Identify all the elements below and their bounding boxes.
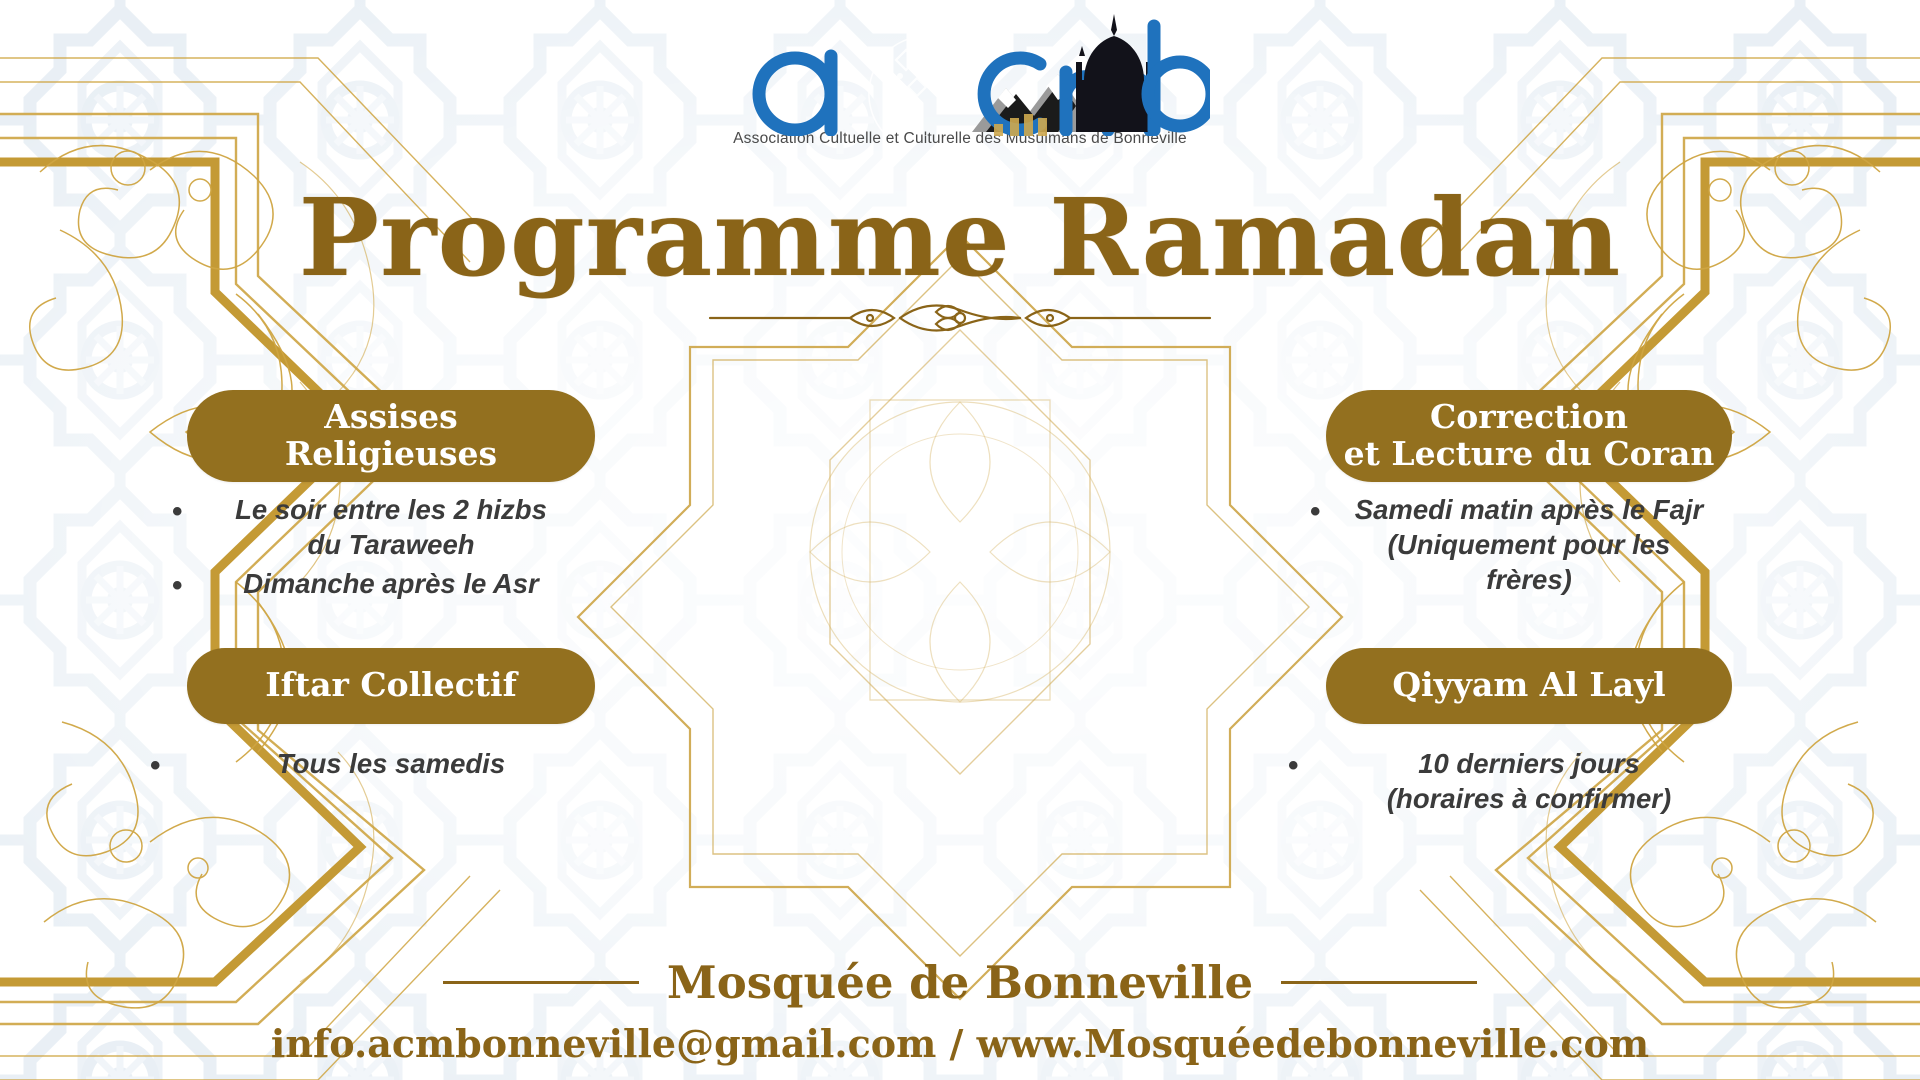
brand-logo-block: Association Cultuelle et Culturelle des … — [0, 6, 1920, 148]
programme-row-2: Iftar Collectif • Tous les samedis Qiyya… — [0, 648, 1920, 820]
section-heading-qiyyam[interactable]: Qiyyam Al Layl — [1326, 648, 1732, 724]
title-block: Programme Ramadan — [0, 185, 1920, 343]
programme-sections: Assises Religieuses • Le soir entre les … — [0, 390, 1920, 820]
list-item: • 10 derniers jours (horaires à confirme… — [1314, 746, 1744, 816]
heading-line-1: Correction — [1430, 397, 1628, 436]
section-qiyyam-al-layl: Qiyyam Al Layl • 10 derniers jours (hora… — [1149, 648, 1909, 820]
ornamental-flourish-divider — [700, 298, 1220, 338]
section-heading-coran[interactable]: Correction et Lecture du Coran — [1326, 390, 1732, 482]
bullet-dot-icon: • — [150, 748, 161, 784]
bullet-list-coran: • Samedi matin après le Fajr (Uniquement… — [1314, 492, 1744, 602]
section-assises-religieuses: Assises Religieuses • Le soir entre les … — [11, 390, 771, 606]
bullet-text-line-2: du Taraweeh — [307, 529, 474, 560]
section-iftar-collectif: Iftar Collectif • Tous les samedis — [11, 648, 771, 785]
section-heading-assises[interactable]: Assises Religieuses — [187, 390, 595, 482]
list-item: • Tous les samedis — [176, 746, 606, 781]
bullet-text-line-1: Le soir entre les 2 hizbs — [235, 494, 547, 525]
footer-name-row: Mosquée de Bonneville — [0, 960, 1920, 1005]
bullet-text: Dimanche après le Asr — [243, 568, 539, 599]
page-title: Programme Ramadan — [0, 185, 1920, 292]
bullet-text-line-2: (horaires à confirmer) — [1387, 783, 1671, 814]
mosque-name: Mosquée de Bonneville — [667, 960, 1253, 1005]
list-item: • Samedi matin après le Fajr (Uniquement… — [1314, 492, 1744, 598]
footer: Mosquée de Bonneville info.acmbonneville… — [0, 960, 1920, 1066]
acmb-logo-mark — [710, 6, 1210, 136]
bullet-list-iftar: • Tous les samedis — [176, 746, 606, 785]
bullet-text-line-1: Samedi matin après le Fajr — [1355, 494, 1703, 525]
heading-line-2: et Lecture du Coran — [1344, 434, 1715, 473]
bullet-dot-icon: • — [1310, 494, 1321, 530]
mosque-dome-icon — [1076, 14, 1155, 132]
bullet-text-line-1: 10 derniers jours — [1418, 748, 1640, 779]
heading-line-1: Qiyyam Al Layl — [1392, 667, 1665, 704]
list-item: • Le soir entre les 2 hizbs du Taraweeh — [176, 492, 606, 562]
bullet-list-assises: • Le soir entre les 2 hizbs du Taraweeh … — [176, 492, 606, 606]
heading-line-1: Iftar Collectif — [265, 667, 517, 704]
bullet-text: Tous les samedis — [277, 748, 505, 779]
heading-line-1: Assises — [324, 397, 457, 436]
bullet-dot-icon: • — [172, 568, 183, 604]
footer-rule-right — [1281, 981, 1477, 984]
bullet-text-line-3: frères) — [1486, 564, 1572, 595]
heading-line-2: Religieuses — [285, 434, 497, 473]
ramadan-programme-poster: Association Cultuelle et Culturelle des … — [0, 0, 1920, 1080]
contact-line: info.acmbonneville@gmail.com / www.Mosqu… — [0, 1021, 1920, 1066]
bullet-dot-icon: • — [1288, 748, 1299, 784]
bullet-text-line-2: (Uniquement pour les — [1388, 529, 1671, 560]
footer-rule-left — [443, 981, 639, 984]
bullet-list-qiyyam: • 10 derniers jours (horaires à confirme… — [1314, 746, 1744, 820]
list-item: • Dimanche après le Asr — [176, 566, 606, 601]
section-correction-lecture-coran: Correction et Lecture du Coran • Samedi … — [1149, 390, 1909, 602]
bullet-dot-icon: • — [172, 494, 183, 530]
section-heading-iftar[interactable]: Iftar Collectif — [187, 648, 595, 724]
crescent-moon-icon — [869, 36, 932, 136]
programme-row-1: Assises Religieuses • Le soir entre les … — [0, 390, 1920, 606]
